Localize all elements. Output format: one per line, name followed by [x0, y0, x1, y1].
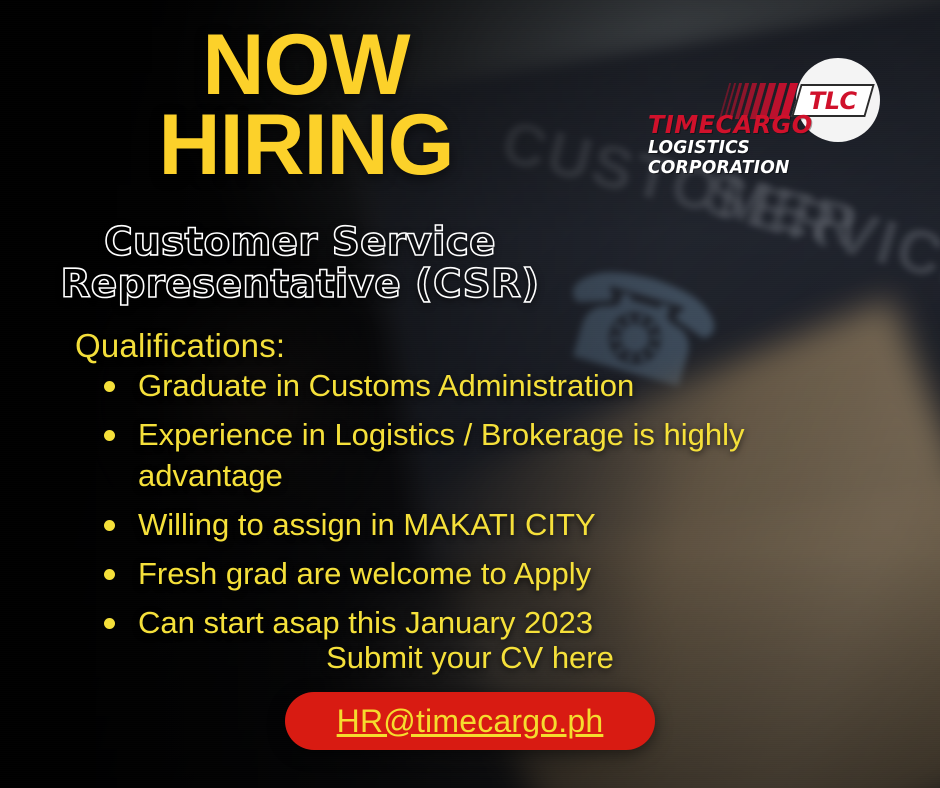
cta-prompt: Submit your CV here	[0, 640, 940, 676]
page-title: NOW HIRING	[0, 26, 612, 186]
job-title: Customer Service Representative (CSR)	[0, 222, 600, 306]
list-item: Willing to assign in MAKATI CITY	[96, 504, 816, 545]
qualifications-list: Graduate in Customs Administration Exper…	[96, 365, 856, 651]
company-subtitle: LOGISTICS CORPORATION	[648, 138, 883, 178]
company-logo: TLC TIMECARGO LOGISTICS CORPORATION	[648, 58, 888, 158]
poster-content: NOW HIRING Customer Service Representati…	[0, 0, 940, 788]
qualifications-heading: Qualifications:	[75, 327, 285, 365]
email-cta-button[interactable]: HR@timecargo.ph	[285, 692, 655, 750]
list-item: Experience in Logistics / Brokerage is h…	[96, 414, 816, 496]
company-name: TIMECARGO	[648, 110, 813, 139]
job-posting-poster: CUSTOMER SERVICE ☎ NOW HIRING Customer S…	[0, 0, 940, 788]
list-item: Graduate in Customs Administration	[96, 365, 816, 406]
list-item: Fresh grad are welcome to Apply	[96, 553, 816, 594]
job-title-line-1: Customer Service	[104, 220, 496, 265]
headline-line-2: HIRING	[0, 106, 612, 186]
job-title-line-2: Representative (CSR)	[0, 264, 600, 306]
tlc-badge-text: TLC	[809, 87, 857, 115]
list-item: Can start asap this January 2023	[96, 602, 816, 643]
